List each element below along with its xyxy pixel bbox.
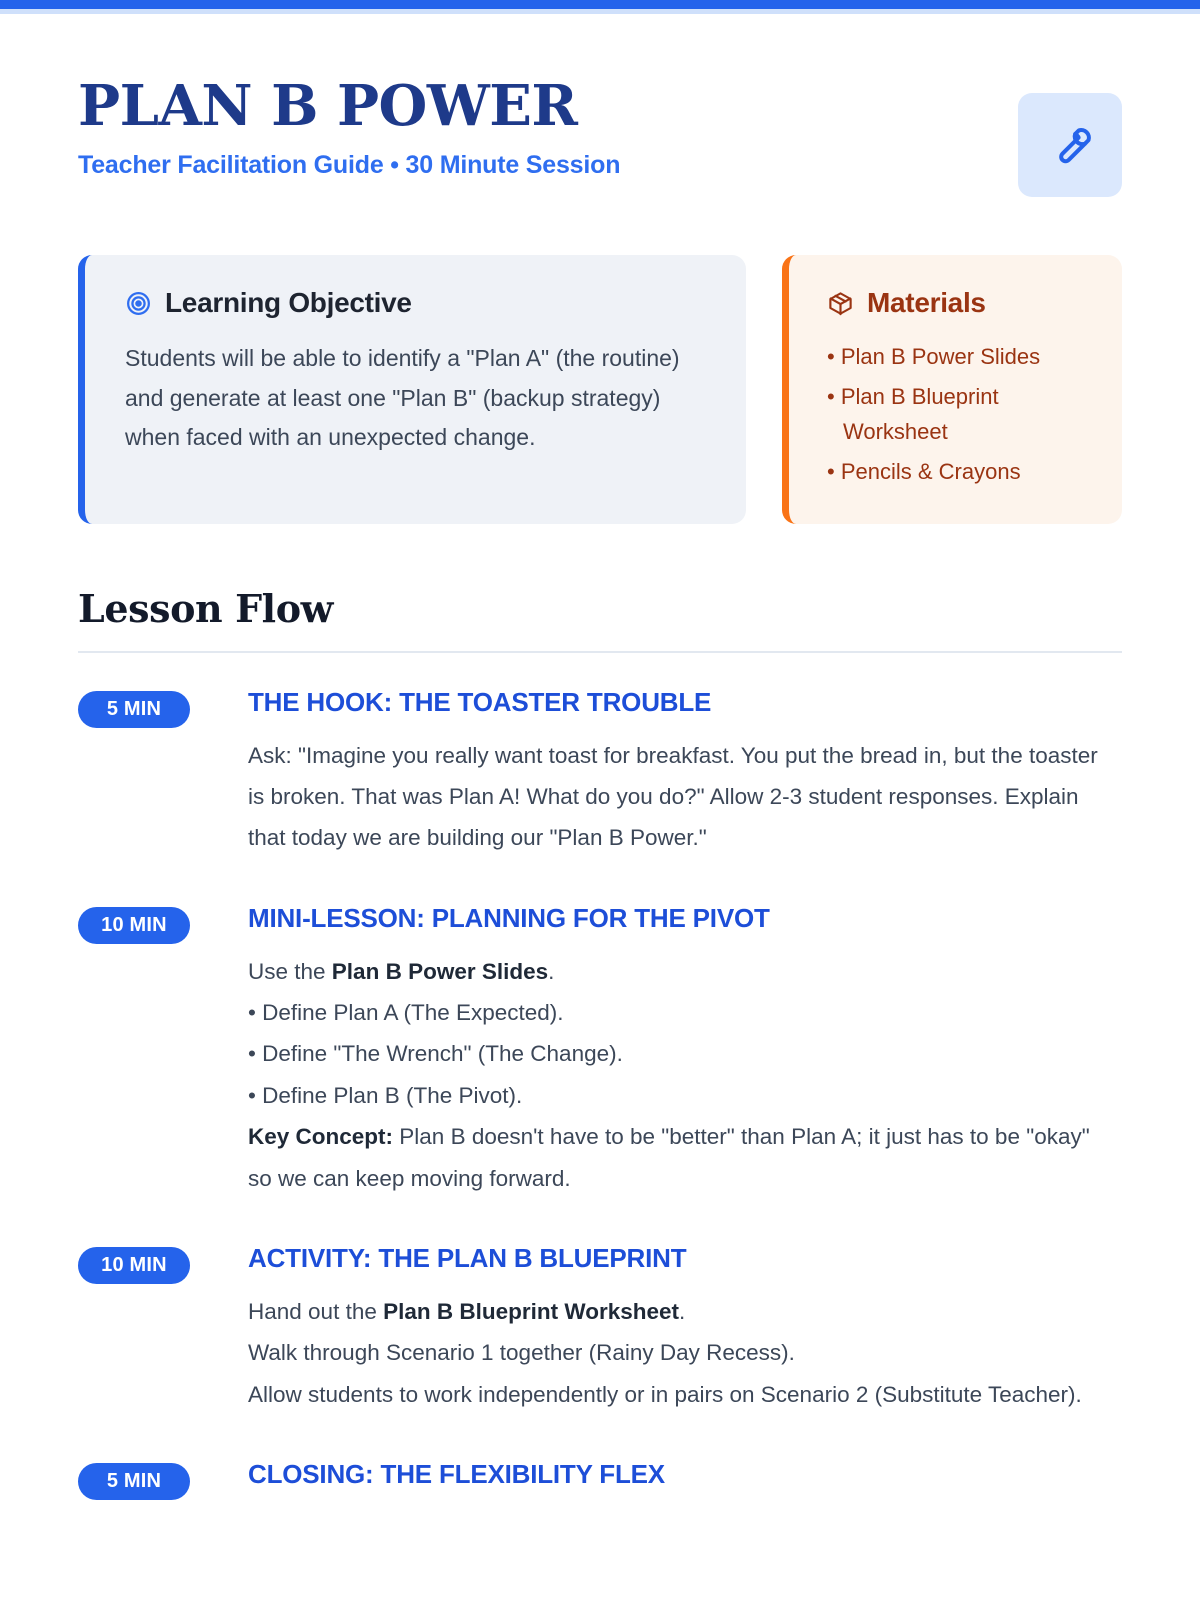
lesson-step: 10 MIN MINI-LESSON: PLANNING FOR THE PIV… <box>78 903 1122 1199</box>
tools-button[interactable] <box>1018 93 1122 197</box>
learning-objective-title: Learning Objective <box>165 287 412 319</box>
wrench-icon <box>1047 122 1093 168</box>
step-line-pre: Use the <box>248 959 332 984</box>
materials-card: Materials Plan B Power Slides Plan B Blu… <box>782 255 1122 524</box>
top-accent-bar <box>0 0 1200 9</box>
status-badge: 5 MIN <box>78 1463 190 1500</box>
lesson-step: 5 MIN THE HOOK: THE TOASTER TROUBLE Ask:… <box>78 687 1122 859</box>
step-line-pre: Hand out the <box>248 1299 383 1324</box>
step-line: Use the Plan B Power Slides. <box>248 951 1112 992</box>
step-line: • Define Plan A (The Expected). <box>248 992 1112 1033</box>
lesson-flow-list: 5 MIN THE HOOK: THE TOASTER TROUBLE Ask:… <box>78 687 1122 1508</box>
page-subtitle: Teacher Facilitation Guide • 30 Minute S… <box>78 151 620 180</box>
target-icon <box>125 290 152 317</box>
package-icon <box>827 290 854 317</box>
step-line: Key Concept: Plan B doesn't have to be "… <box>248 1116 1112 1199</box>
learning-objective-card: Learning Objective Students will be able… <box>78 255 746 524</box>
step-duration-column: 10 MIN <box>78 1243 248 1415</box>
materials-header: Materials <box>827 287 1096 319</box>
status-badge: 10 MIN <box>78 1247 190 1284</box>
step-line: • Define Plan B (The Pivot). <box>248 1075 1112 1116</box>
step-title: CLOSING: THE FLEXIBILITY FLEX <box>248 1459 1112 1490</box>
step-duration-column: 5 MIN <box>78 1459 248 1507</box>
status-badge: 10 MIN <box>78 907 190 944</box>
step-line: Hand out the Plan B Blueprint Worksheet. <box>248 1291 1112 1332</box>
step-line-post: . <box>548 959 554 984</box>
step-line: Walk through Scenario 1 together (Rainy … <box>248 1332 1112 1373</box>
step-description: Ask: "Imagine you really want toast for … <box>248 735 1112 859</box>
step-line: Allow students to work independently or … <box>248 1374 1112 1415</box>
step-description: Use the Plan B Power Slides. • Define Pl… <box>248 951 1112 1199</box>
list-item: Plan B Blueprint Worksheet <box>827 379 1096 450</box>
step-content: CLOSING: THE FLEXIBILITY FLEX <box>248 1459 1122 1507</box>
step-line-post: . <box>679 1299 685 1324</box>
section-divider <box>78 651 1122 653</box>
step-duration-column: 10 MIN <box>78 903 248 1199</box>
materials-title: Materials <box>867 287 986 319</box>
step-title: MINI-LESSON: PLANNING FOR THE PIVOT <box>248 903 1112 934</box>
step-duration-column: 5 MIN <box>78 687 248 859</box>
learning-objective-header: Learning Objective <box>125 287 706 319</box>
lesson-step: 10 MIN ACTIVITY: THE PLAN B BLUEPRINT Ha… <box>78 1243 1122 1415</box>
list-item: Plan B Power Slides <box>827 339 1096 375</box>
document-header: PLAN B POWER Teacher Facilitation Guide … <box>78 14 1122 197</box>
lesson-flow-heading: Lesson Flow <box>78 586 1122 631</box>
step-title: ACTIVITY: THE PLAN B BLUEPRINT <box>248 1243 1112 1274</box>
learning-objective-body: Students will be able to identify a "Pla… <box>125 339 706 458</box>
materials-list: Plan B Power Slides Plan B Blueprint Wor… <box>827 339 1096 490</box>
info-cards-row: Learning Objective Students will be able… <box>78 255 1122 524</box>
step-line-bold: Plan B Power Slides <box>332 959 548 984</box>
step-content: ACTIVITY: THE PLAN B BLUEPRINT Hand out … <box>248 1243 1122 1415</box>
lesson-step: 5 MIN CLOSING: THE FLEXIBILITY FLEX <box>78 1459 1122 1507</box>
step-description: Hand out the Plan B Blueprint Worksheet.… <box>248 1291 1112 1415</box>
step-content: MINI-LESSON: PLANNING FOR THE PIVOT Use … <box>248 903 1122 1199</box>
list-item: Pencils & Crayons <box>827 454 1096 490</box>
status-badge: 5 MIN <box>78 691 190 728</box>
page-title: PLAN B POWER <box>78 78 620 134</box>
header-text-group: PLAN B POWER Teacher Facilitation Guide … <box>78 74 620 180</box>
document-page: PLAN B POWER Teacher Facilitation Guide … <box>0 14 1200 1507</box>
step-line: • Define "The Wrench" (The Change). <box>248 1033 1112 1074</box>
step-line: Ask: "Imagine you really want toast for … <box>248 735 1112 859</box>
step-line-bold: Plan B Blueprint Worksheet <box>383 1299 679 1324</box>
step-line-bold: Key Concept: <box>248 1124 393 1149</box>
step-content: THE HOOK: THE TOASTER TROUBLE Ask: "Imag… <box>248 687 1122 859</box>
step-title: THE HOOK: THE TOASTER TROUBLE <box>248 687 1112 718</box>
